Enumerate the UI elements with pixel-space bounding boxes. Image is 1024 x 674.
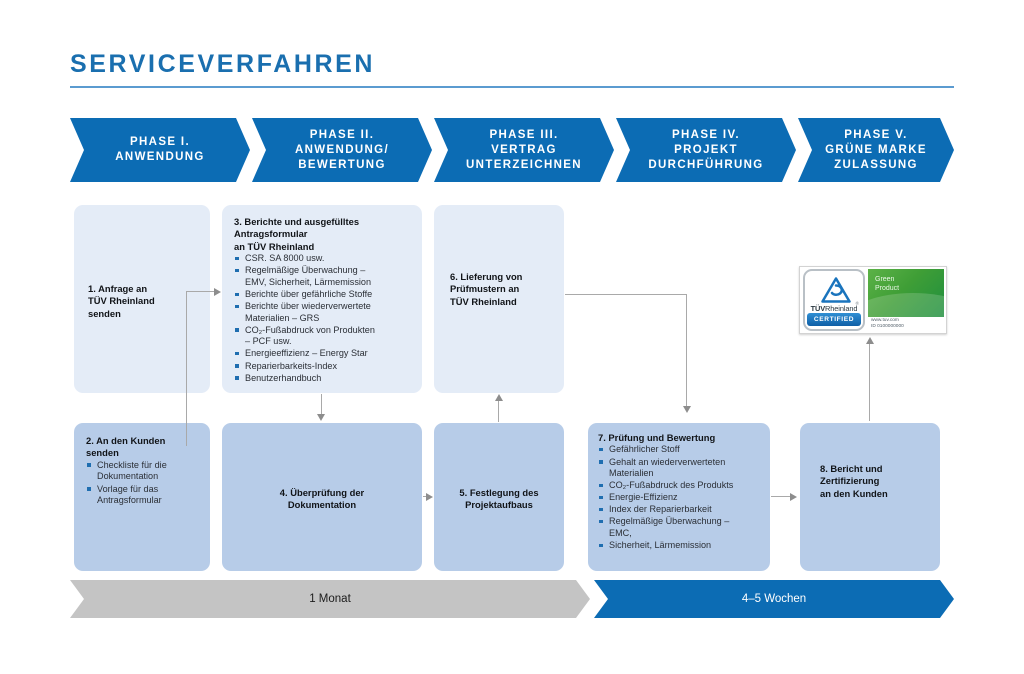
connector-8-to-certificate-arrowhead xyxy=(866,337,874,344)
connector-2-stub xyxy=(186,440,187,446)
list-item: Sicherheit, Lärmemission xyxy=(598,540,762,552)
connector-2-to-3-arrowhead xyxy=(214,288,221,296)
process-box-1[interactable]: 1. Anfrage an TÜV Rheinland senden xyxy=(74,205,210,393)
phase-chevron-5: PHASE V. GRÜNE MARKE ZULASSUNG xyxy=(798,118,954,182)
process-box-3[interactable]: 3. Berichte und ausgefülltes Antragsform… xyxy=(222,205,422,393)
process-box-5[interactable]: 5. Festlegung des Projektaufbaus xyxy=(434,423,564,571)
process-box-3-bullets: CSR. SA 8000 usw. Regelmäßige Überwachun… xyxy=(234,253,414,384)
phase-chevron-3: PHASE III. VERTRAG UNTERZEICHNEN xyxy=(434,118,614,182)
connector-6-to-7-horizontal xyxy=(565,294,687,295)
process-box-5-title: 5. Festlegung des Projektaufbaus xyxy=(434,487,564,512)
green-product-label: Green Product xyxy=(875,275,899,293)
green-product-panel: Green Product xyxy=(868,269,944,317)
phase-chevron-2: PHASE II. ANWENDUNG/ BEWERTUNG xyxy=(252,118,432,182)
page-title: SERVICEVERFAHREN xyxy=(70,50,375,79)
process-box-7-title: 7. Prüfung und Bewertung xyxy=(598,432,762,444)
timeline-bar: 1 Monat 4–5 Wochen xyxy=(70,580,954,618)
list-item: Gehalt an wiederverwerteten Materialien xyxy=(598,457,762,480)
process-box-6[interactable]: 6. Lieferung von Prüfmustern an TÜV Rhei… xyxy=(434,205,564,393)
timeline-segment-1-label: 1 Monat xyxy=(309,593,351,605)
phase-label-3: PHASE III. VERTRAG UNTERZEICHNEN xyxy=(460,128,588,173)
connector-6-to-7-vertical xyxy=(686,294,687,408)
process-box-2-title: 2. An den Kunden senden xyxy=(86,435,200,460)
connector-3-to-4 xyxy=(321,394,322,416)
process-box-8[interactable]: 8. Bericht und Zertifizierung an den Kun… xyxy=(800,423,940,571)
certificate-url-id: www.tuv.com ID 0100000000 xyxy=(868,318,947,330)
list-item: CO₂-Fußabdruck von Produkten – PCF usw. xyxy=(234,325,414,348)
list-item: Regelmäßige Überwachung – EMC, xyxy=(598,516,762,539)
process-box-7[interactable]: 7. Prüfung und Bewertung Gefährlicher St… xyxy=(588,423,770,571)
tuv-rheinland-wordmark: TÜVRheinland xyxy=(805,304,863,313)
phase-label-1: PHASE I. ANWENDUNG xyxy=(109,135,210,165)
list-item: Checkliste für die Dokumentation xyxy=(86,460,200,483)
list-item: Gefährlicher Stoff xyxy=(598,444,762,456)
process-box-4-title: 4. Überprüfung der Dokumentation xyxy=(222,487,422,512)
timeline-segment-2-label: 4–5 Wochen xyxy=(742,593,806,605)
process-box-6-title: 6. Lieferung von Prüfmustern an TÜV Rhei… xyxy=(450,271,522,308)
registered-mark-icon: ® xyxy=(856,301,859,306)
list-item: Vorlage für das Antragsformular xyxy=(86,484,200,507)
connector-3-to-4-arrowhead xyxy=(317,414,325,421)
tuv-rheinland-badge: TÜVRheinland ® CERTIFIED xyxy=(803,269,865,331)
diagram-canvas: SERVICEVERFAHREN PHASE I. ANWENDUNG PHAS… xyxy=(0,0,1024,674)
list-item: CO₂-Fußabdruck des Produkts xyxy=(598,480,762,492)
process-box-3-title: 3. Berichte und ausgefülltes Antragsform… xyxy=(234,216,414,253)
process-box-2-bullets: Checkliste für die Dokumentation Vorlage… xyxy=(86,460,200,507)
tuv-wordmark-rest: Rheinland xyxy=(825,304,857,313)
phase-chevron-1: PHASE I. ANWENDUNG xyxy=(70,118,250,182)
tuv-triangle-icon xyxy=(821,277,851,303)
phase-chevron-4: PHASE IV. PROJEKT DURCHFÜHRUNG xyxy=(616,118,796,182)
connector-5-to-6 xyxy=(498,400,499,422)
list-item: Regelmäßige Überwachung – EMV, Sicherhei… xyxy=(234,265,414,288)
connector-7-to-8 xyxy=(771,496,791,497)
connector-2-to-3-vertical xyxy=(186,291,187,441)
process-box-8-title: 8. Bericht und Zertifizierung an den Kun… xyxy=(820,463,888,500)
list-item: Energie-Effizienz xyxy=(598,492,762,504)
title-divider xyxy=(70,86,954,88)
list-item: Benutzerhandbuch xyxy=(234,373,414,385)
timeline-segment-1: 1 Monat xyxy=(70,580,590,618)
connector-6-to-7-arrowhead xyxy=(683,406,691,413)
certificate-mark: TÜVRheinland ® CERTIFIED Green Product w… xyxy=(799,266,947,334)
process-box-7-bullets: Gefährlicher Stoff Gehalt an wiederverwe… xyxy=(598,444,762,551)
connector-2-to-3-horizontal xyxy=(186,291,215,292)
list-item: Berichte über gefährliche Stoffe xyxy=(234,289,414,301)
process-box-1-title: 1. Anfrage an TÜV Rheinland senden xyxy=(88,283,155,320)
process-box-4[interactable]: 4. Überprüfung der Dokumentation xyxy=(222,423,422,571)
timeline-segment-2: 4–5 Wochen xyxy=(594,580,954,618)
certified-badge: CERTIFIED xyxy=(807,313,861,326)
process-box-2[interactable]: 2. An den Kunden senden Checkliste für d… xyxy=(74,423,210,571)
phase-banner: PHASE I. ANWENDUNG PHASE II. ANWENDUNG/ … xyxy=(70,118,954,182)
phase-label-4: PHASE IV. PROJEKT DURCHFÜHRUNG xyxy=(642,128,769,173)
list-item: Index der Reparierbarkeit xyxy=(598,504,762,516)
connector-5-to-6-arrowhead xyxy=(495,394,503,401)
connector-4-to-5-arrowhead xyxy=(426,493,433,501)
list-item: Energieeffizienz – Energy Star xyxy=(234,348,414,360)
list-item: Berichte über wiederverwertete Materiali… xyxy=(234,301,414,324)
list-item: CSR. SA 8000 usw. xyxy=(234,253,414,265)
list-item: Reparierbarkeits-Index xyxy=(234,361,414,373)
connector-8-to-certificate xyxy=(869,343,870,421)
phase-label-5: PHASE V. GRÜNE MARKE ZULASSUNG xyxy=(819,128,933,173)
phase-label-2: PHASE II. ANWENDUNG/ BEWERTUNG xyxy=(289,128,395,173)
connector-7-to-8-arrowhead xyxy=(790,493,797,501)
tuv-wordmark-bold: TÜV xyxy=(811,304,825,313)
